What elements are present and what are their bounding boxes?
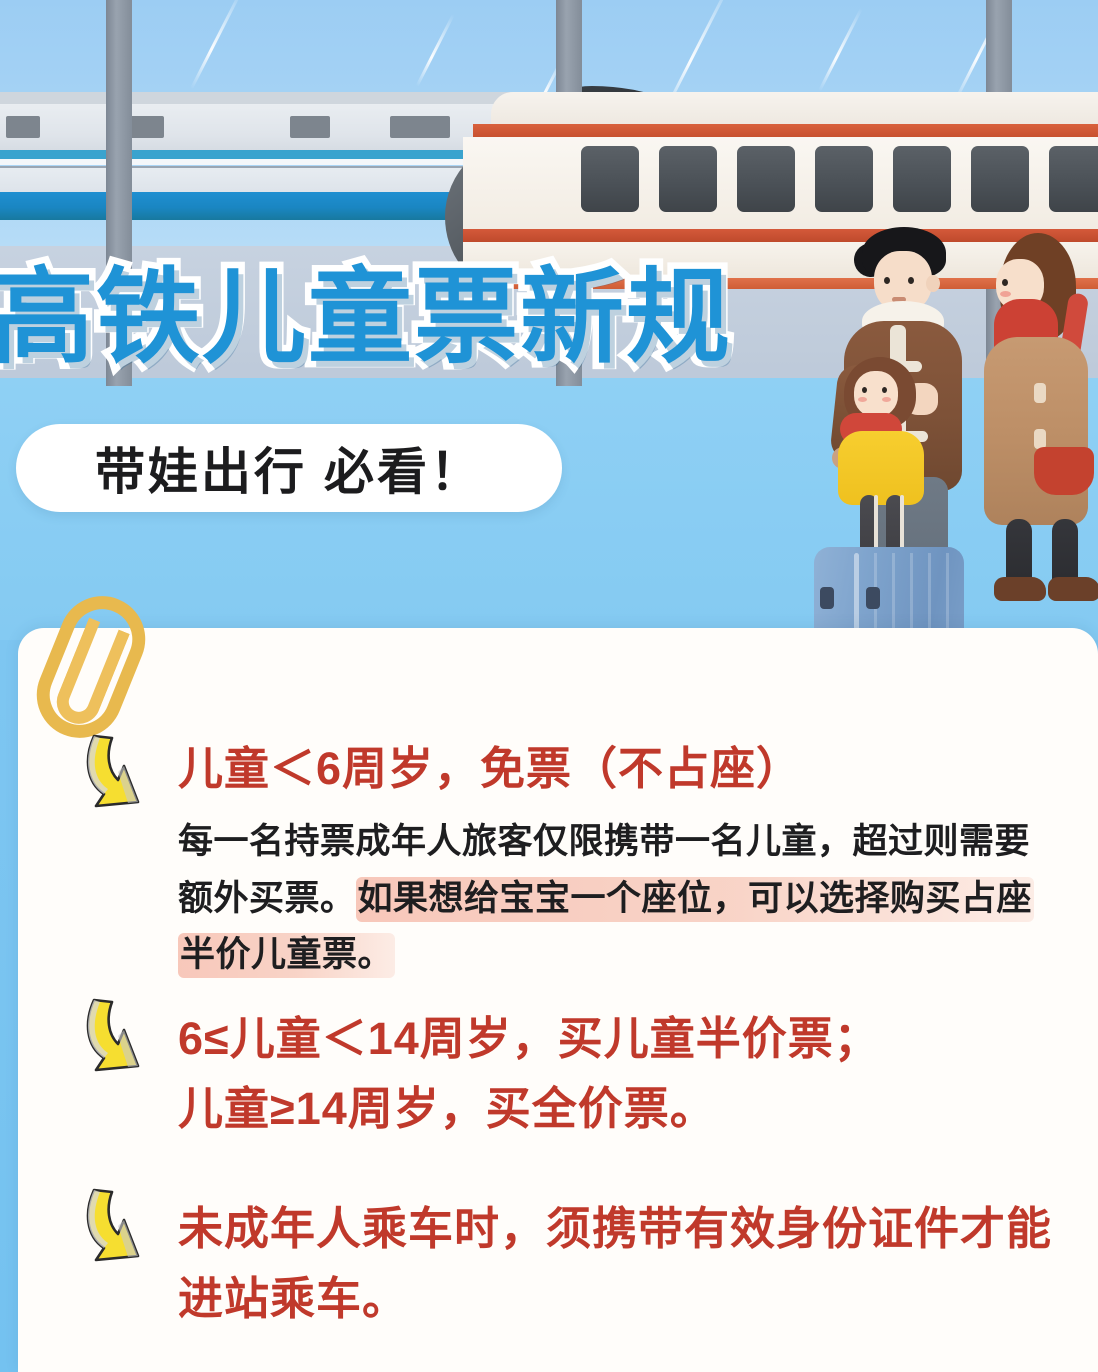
leg-stripe (874, 495, 878, 555)
page-title: 高铁儿童票新规 (0, 266, 820, 370)
subtitle-pill: 带娃出行 必看！ (16, 424, 562, 512)
curved-down-arrow-icon (78, 996, 150, 1080)
cheek (1000, 291, 1011, 297)
leg-stripe (900, 495, 904, 555)
coat-button (1034, 383, 1046, 403)
curved-down-arrow-icon (78, 732, 150, 816)
child-figure (834, 355, 944, 535)
train-window (290, 116, 330, 138)
suitcase-rib (892, 553, 895, 640)
rule-body: 每一名持票成年人旅客仅限携带一名儿童，超过则需要额外买票。如果想给宝宝一个座位，… (178, 814, 1054, 984)
train-window (971, 146, 1029, 212)
paperclip-icon (48, 594, 144, 744)
coat-button (1034, 429, 1046, 449)
train-window (1049, 146, 1098, 212)
suitcase-latch (866, 587, 880, 609)
poster-root: 高铁儿童票新规 带娃出行 必看！ 儿童＜6周岁，免票（不占座） (0, 0, 1098, 1372)
train-window (815, 146, 873, 212)
eye (1002, 279, 1008, 286)
rule-heading-line-2: 儿童≥14周岁，买全价票。 (178, 1080, 716, 1139)
boot (994, 577, 1046, 601)
suitcase-seam (854, 553, 859, 640)
yellow-jacket (838, 431, 924, 505)
curved-down-arrow-icon (78, 1186, 150, 1270)
red-handbag (1034, 447, 1094, 495)
train-roof (491, 92, 1098, 124)
eye (908, 277, 914, 284)
woman-figure (978, 233, 1098, 605)
face (854, 371, 898, 417)
rule-heading: 儿童＜6周岁，免票（不占座） (178, 740, 802, 799)
eye (862, 387, 867, 393)
rule-heading-line-1: 6≤儿童＜14周岁，买儿童半价票； (178, 1010, 880, 1069)
rule-heading-line-2: 进站乘车。 (178, 1270, 408, 1329)
content-card: 儿童＜6周岁，免票（不占座） 每一名持票成年人旅客仅限携带一名儿童，超过则需要额… (18, 628, 1098, 1372)
train-window (893, 146, 951, 212)
train-window (581, 146, 639, 212)
suitcase-rib (928, 553, 931, 640)
subtitle-text: 带娃出行 必看！ (16, 432, 562, 504)
suitcase-latch (820, 587, 834, 609)
eye (884, 277, 890, 284)
ear (926, 275, 940, 292)
suitcase-rib (946, 553, 949, 640)
blue-suitcase (814, 547, 964, 640)
train-window (390, 116, 450, 138)
cheek (882, 397, 891, 402)
eye (882, 387, 887, 393)
cheek (858, 397, 867, 402)
train-window (6, 116, 40, 138)
suitcase-rib (910, 553, 913, 640)
train-red-stripe (473, 124, 1098, 137)
traveler-group (800, 225, 1098, 625)
train-window (737, 146, 795, 212)
rule-heading-line-1: 未成年人乘车时，须携带有效身份证件才能 (178, 1200, 1052, 1259)
boot (1048, 577, 1098, 601)
train-accent-stripe (0, 150, 500, 159)
train-window (659, 146, 717, 212)
